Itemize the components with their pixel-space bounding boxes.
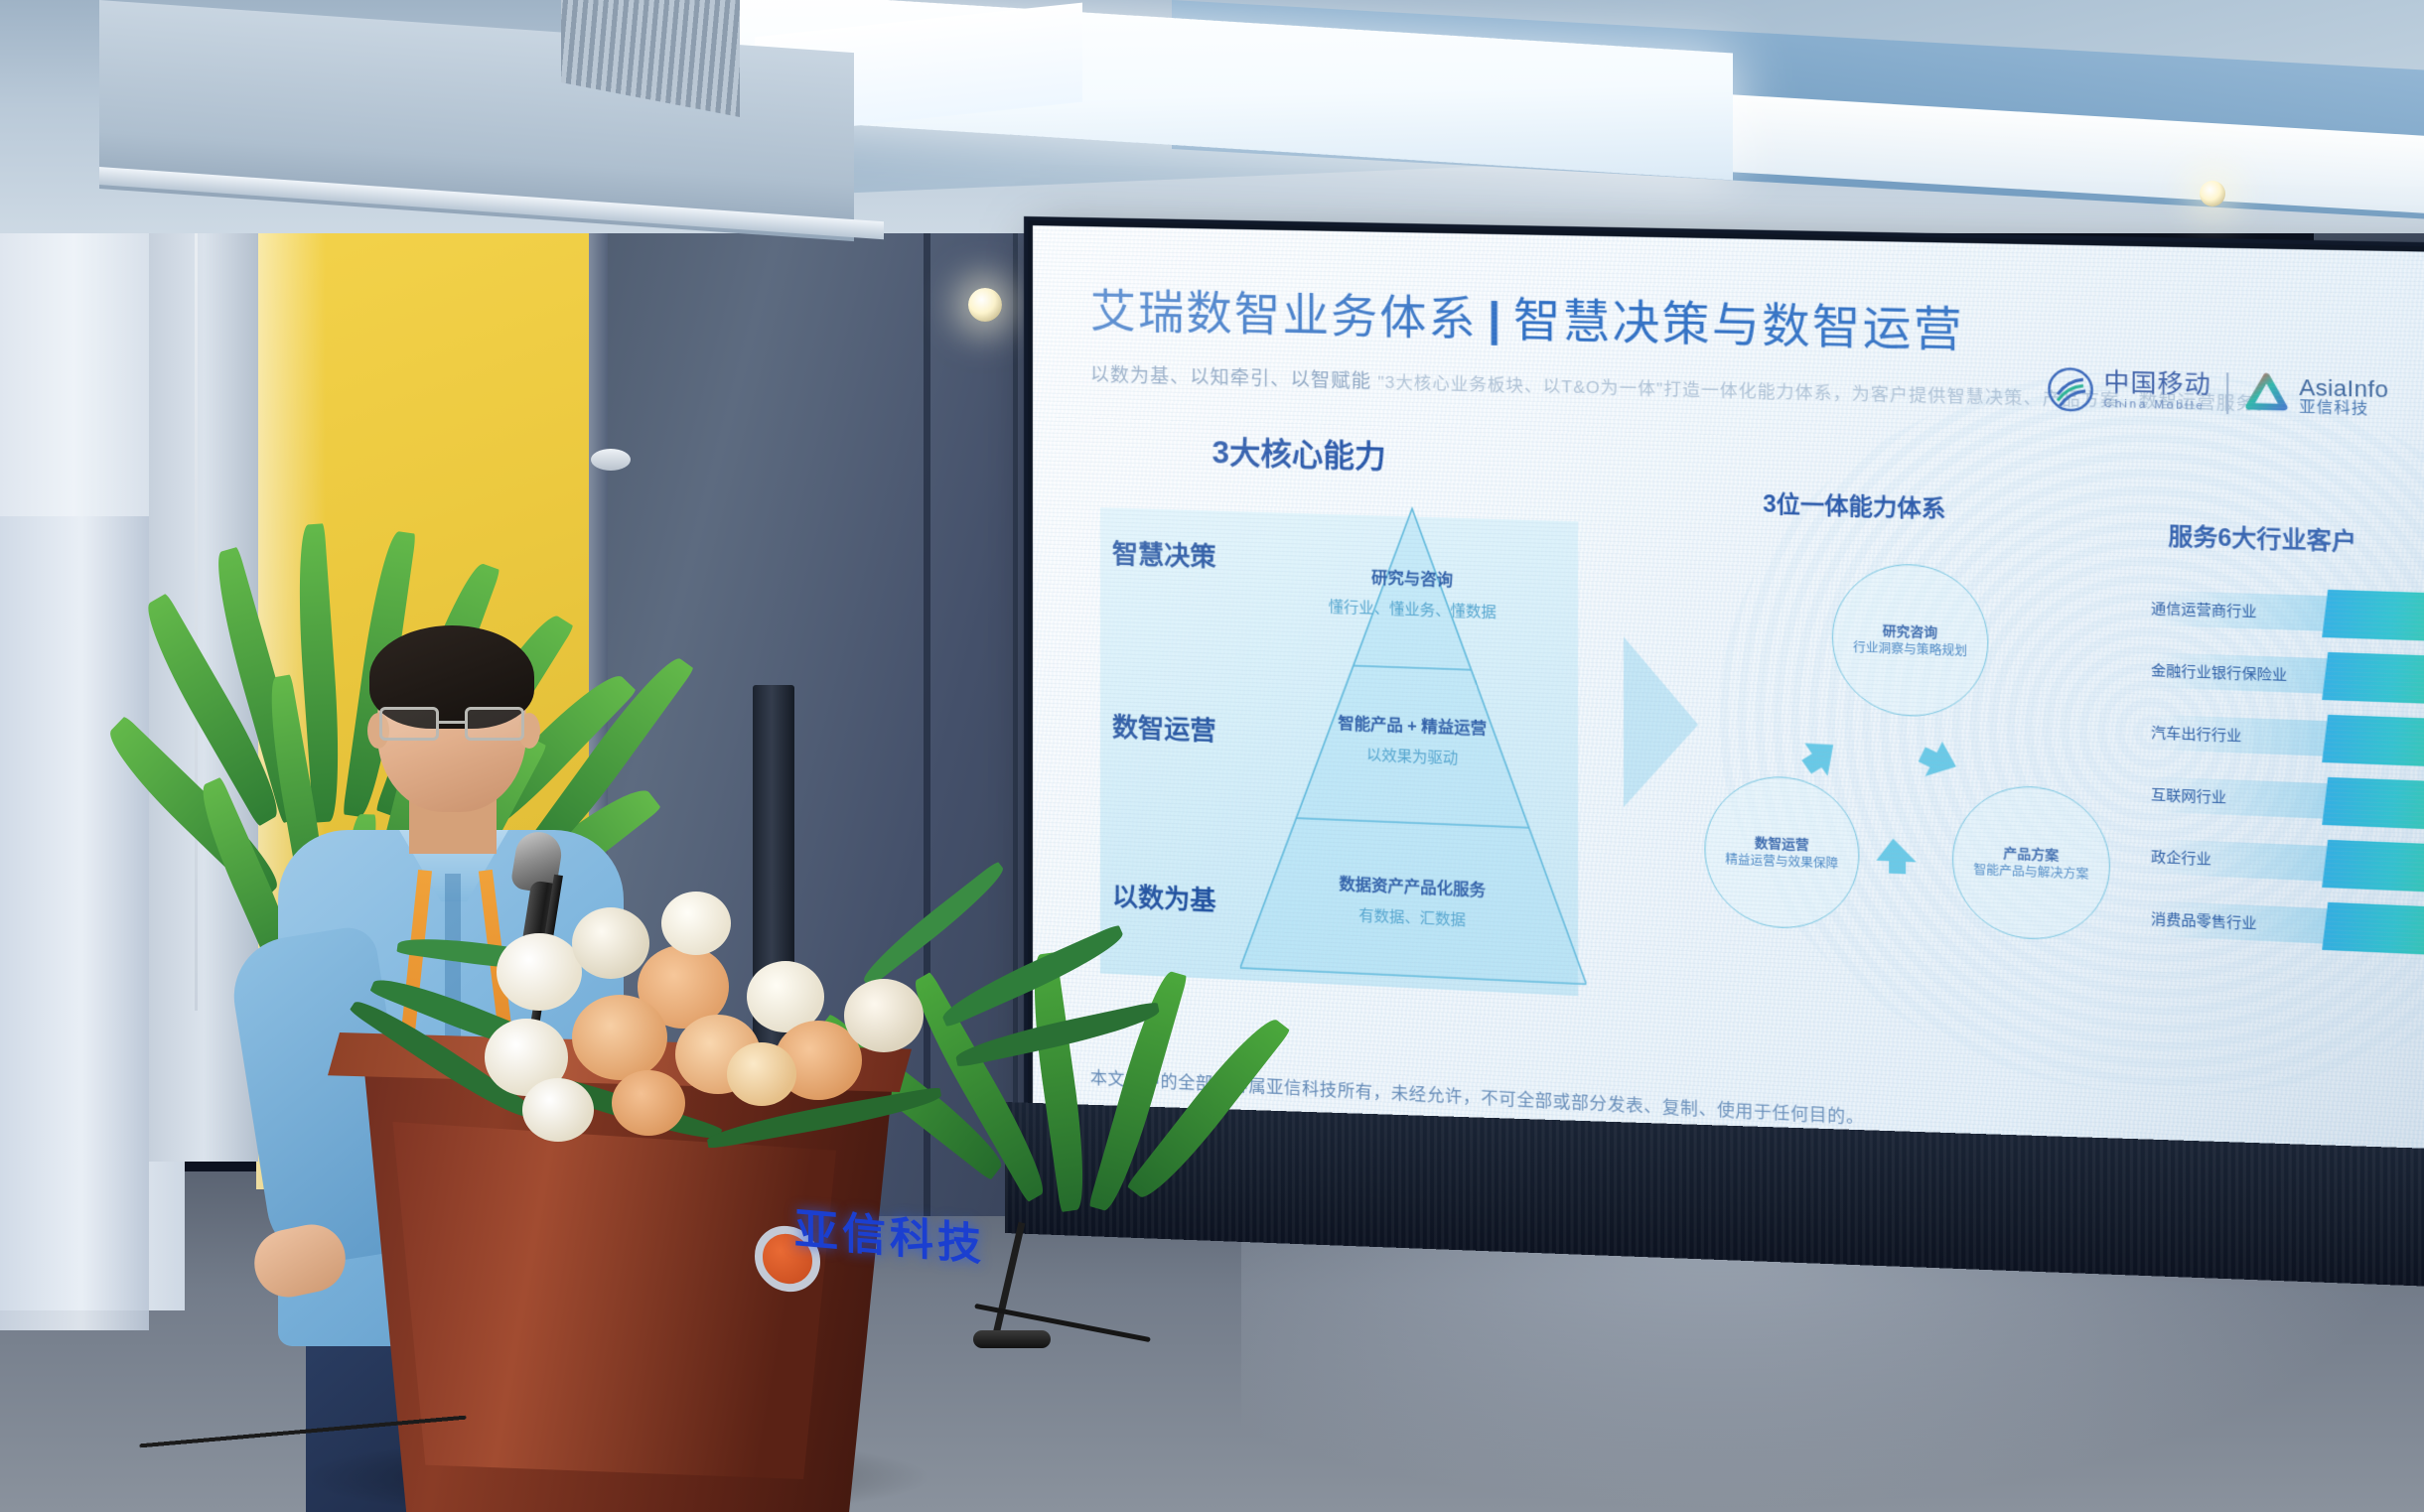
capability-circle-2-title: 数智运营 xyxy=(1755,834,1809,855)
slide-title-sub: 智慧决策与数智运营 xyxy=(1513,293,1964,355)
industry-bar xyxy=(2322,840,2424,894)
industry-item[interactable]: 金融行业银行保险业 xyxy=(2145,644,2424,708)
pyramid-row-label-2: 数智运营 xyxy=(1112,707,1216,748)
industry-bar xyxy=(2322,590,2424,642)
industry-item[interactable]: 政企行业 xyxy=(2145,830,2424,895)
industry-label: 互联网行业 xyxy=(2145,783,2227,807)
china-mobile-wordmark: 中国移动 China Mobile xyxy=(2104,370,2211,412)
cycle-arrow-right-icon xyxy=(1915,737,1963,785)
china-mobile-cn: 中国移动 xyxy=(2104,370,2211,398)
industry-bar xyxy=(2322,652,2424,706)
capability-circle-2: 数智运营 精益运营与效果保障 xyxy=(1704,773,1859,931)
slide-logo-group: 中国移动 China Mobile xyxy=(2047,366,2388,420)
industries-heading: 服务6大行业客户 xyxy=(2168,516,2356,557)
smoke-detector-icon xyxy=(591,449,631,471)
cycle-arrow-left-icon xyxy=(1796,733,1845,781)
industry-bar xyxy=(2322,777,2424,831)
capability-circle-1-sub: 行业洞察与策略规划 xyxy=(1853,639,1967,660)
capability-circle-3-title: 产品方案 xyxy=(2003,844,2059,865)
spotlight-icon xyxy=(968,288,1002,322)
china-mobile-logo: 中国移动 China Mobile xyxy=(2047,366,2210,416)
flower-arrangement xyxy=(377,884,1112,1221)
china-mobile-mark-icon xyxy=(2047,366,2093,413)
pyramid-row-label-1: 智慧决策 xyxy=(1112,534,1216,574)
capability-circle-3-sub: 智能产品与解决方案 xyxy=(1973,861,2088,883)
capability-circles: 研究咨询 行业洞察与策略规划 数智运营 精益运营与效果保障 产品方案 智能产品与… xyxy=(1696,558,2151,1018)
white-curtain-fold xyxy=(0,516,149,1330)
slide-title: 艾瑞数智业务体系|智慧决策与数智运营 xyxy=(1090,274,2393,370)
industry-bar xyxy=(2322,902,2424,957)
industry-label: 通信运营商行业 xyxy=(2145,598,2257,622)
industry-label: 政企行业 xyxy=(2145,846,2211,870)
industry-item[interactable]: 汽车出行行业 xyxy=(2145,706,2424,769)
capability-circle-1-title: 研究咨询 xyxy=(1883,621,1937,641)
pyramid-heading: 3大核心能力 xyxy=(1212,427,1386,477)
capability-pyramid: 智慧决策 数智运营 以数为基 研究与咨询 懂行业、懂业务、懂数据 xyxy=(1090,485,1628,1029)
capability-circle-2-sub: 精益运营与效果保障 xyxy=(1725,851,1838,873)
logo-separator xyxy=(2226,372,2228,414)
slide-title-main: 艾瑞数智业务体系 xyxy=(1090,284,1478,344)
circles-heading: 3位一体能力体系 xyxy=(1763,484,1945,524)
photo-scene: 艾瑞数智业务体系|智慧决策与数智运营 以数为基、以知牵引、以智赋能 "3大核心业… xyxy=(0,0,2424,1512)
pyramid-tier-1: 研究与咨询 懂行业、懂业务、懂数据 xyxy=(1289,561,1537,623)
capability-circle-1: 研究咨询 行业洞察与策略规划 xyxy=(1832,562,1988,719)
asiainfo-mark-icon xyxy=(2244,372,2290,417)
industry-bar xyxy=(2322,715,2424,768)
industry-item[interactable]: 通信运营商行业 xyxy=(2145,582,2424,644)
china-mobile-en: China Mobile xyxy=(2104,399,2211,413)
industry-item[interactable]: 消费品零售行业 xyxy=(2145,893,2424,959)
cycle-arrow-bottom-icon xyxy=(1872,832,1921,882)
capability-circle-3: 产品方案 智能产品与解决方案 xyxy=(1952,783,2110,942)
asiainfo-wordmark: AsiaInfo 亚信科技 xyxy=(2299,375,2388,418)
asiainfo-en: AsiaInfo xyxy=(2299,375,2388,401)
floor-microphone-base xyxy=(973,1330,1051,1348)
pyramid-row-label-3: 以数为基 xyxy=(1112,877,1216,918)
smoke-detector-right-icon xyxy=(2200,181,2225,206)
glasses-icon xyxy=(379,707,526,741)
asiainfo-logo: AsiaInfo 亚信科技 xyxy=(2244,372,2389,420)
slide-title-divider: | xyxy=(1488,293,1502,345)
industry-list: 通信运营商行业 金融行业银行保险业 汽车出行行业 xyxy=(2145,582,2424,969)
slide-subtitle-lead: 以数为基、以知牵引、以智赋能 xyxy=(1090,365,1371,393)
industry-item[interactable]: 互联网行业 xyxy=(2145,768,2424,833)
industry-label: 汽车出行行业 xyxy=(2145,722,2242,746)
